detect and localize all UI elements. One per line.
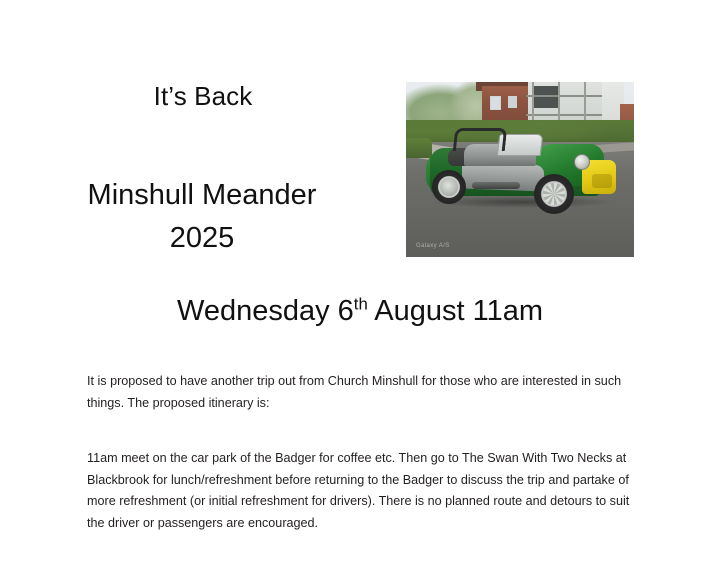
event-year-heading: 2025 (0, 212, 400, 256)
event-name-heading: Minshull Meander (0, 178, 400, 212)
event-date-ordinal: th (354, 294, 368, 313)
body-copy: It is proposed to have another trip out … (87, 371, 638, 572)
paragraph-intro: It is proposed to have another trip out … (87, 371, 638, 414)
event-date-prefix: Wednesday 6 (177, 295, 354, 327)
car-nose-shadow (592, 174, 612, 188)
tagline-heading: It’s Back (0, 82, 400, 112)
flyer-page: It’s Back Minshull Meander 2025 Wednesda… (0, 0, 720, 540)
car-photo: Galaxy A/S (406, 82, 634, 257)
car-headlight (574, 154, 590, 170)
car-rear-wheel (432, 170, 466, 204)
paragraph-cut-off (87, 550, 638, 559)
event-date-heading: Wednesday 6th August 11am (0, 295, 720, 328)
event-date-suffix: August 11am (368, 295, 543, 327)
paragraph-itinerary: 11am meet on the car park of the Badger … (87, 448, 638, 534)
photo-car (406, 82, 634, 257)
photo-watermark: Galaxy A/S (416, 243, 450, 249)
heading-spacer (0, 112, 400, 178)
car-front-wheel (534, 174, 574, 214)
car-exhaust (472, 182, 520, 189)
heading-block: It’s Back Minshull Meander 2025 (0, 82, 400, 256)
car-roll-bar (453, 128, 507, 151)
